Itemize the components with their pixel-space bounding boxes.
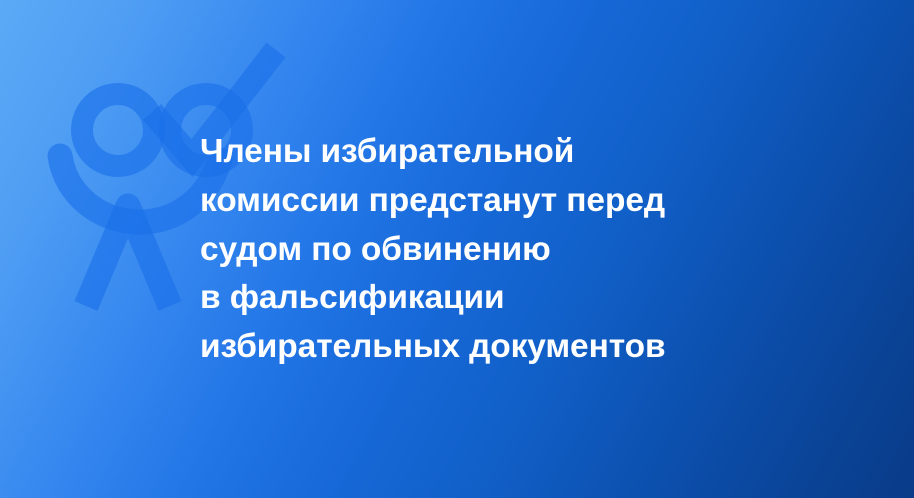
smile-arc-icon xyxy=(60,156,220,222)
headline-line-1: Члены избирательной xyxy=(200,128,720,177)
headline-line-5: избирательных документов xyxy=(200,323,720,372)
headline: Члены избирательной комиссии предстанут … xyxy=(200,128,720,372)
news-card: Члены избирательной комиссии предстанут … xyxy=(0,0,914,498)
legs-icon xyxy=(86,206,170,306)
headline-line-4: в фальсификации xyxy=(200,274,720,323)
headline-line-2: комиссии предстанут перед xyxy=(200,177,720,226)
headline-line-3: судом по обвинению xyxy=(200,226,720,275)
left-ring-icon xyxy=(82,94,154,166)
